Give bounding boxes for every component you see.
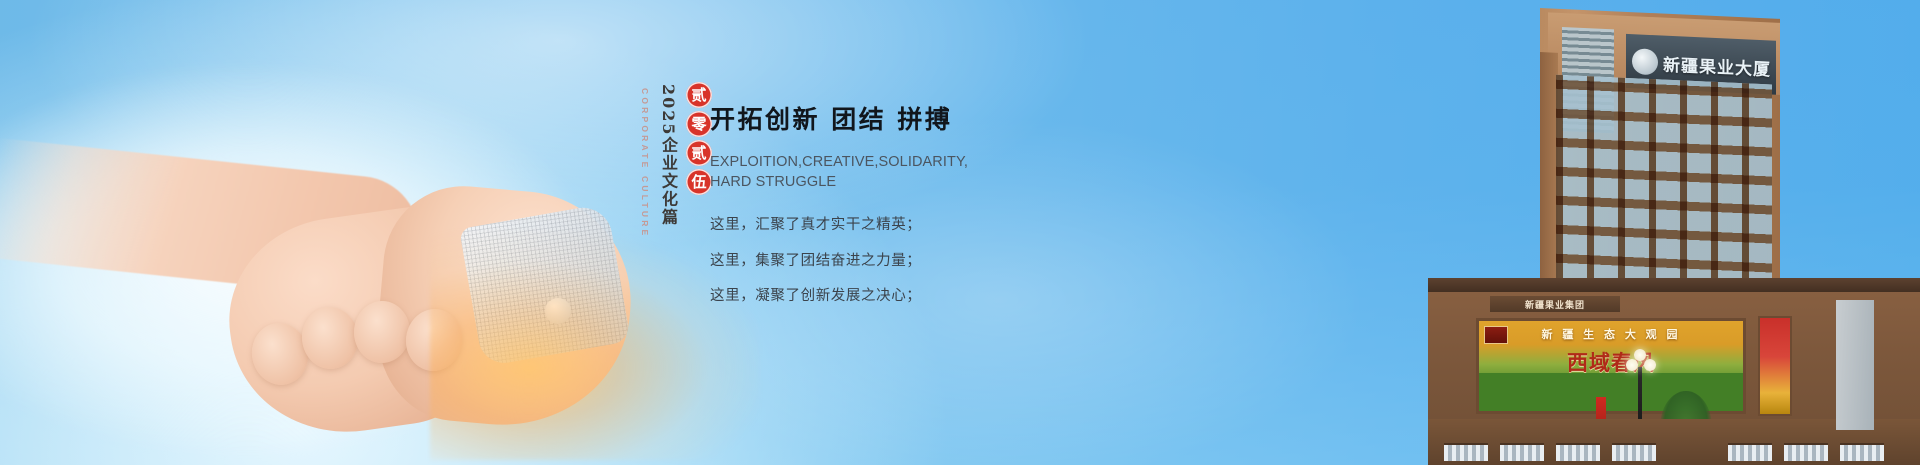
vertical-english-label: CORPORATE CULTURE	[640, 78, 650, 238]
background-side-tower	[1836, 300, 1874, 430]
seal-stamp-4: 伍	[686, 169, 712, 195]
slogan-text-block: 开拓创新 团结 拼搏 EXPLOITION,CREATIVE,SOLIDARIT…	[710, 100, 1010, 325]
slogan-line-3: 这里，凝聚了创新发展之决心；	[710, 289, 1010, 304]
shop-awning	[1784, 443, 1828, 461]
slogan-line-1: 这里，汇聚了真才实干之精英；	[710, 218, 1010, 233]
seal-stamp-2: 零	[686, 111, 712, 137]
corporate-culture-banner: 诚信合作 贰 零 贰 伍 2025企业文化篇 CORPORATE CULTURE…	[0, 0, 1920, 465]
slogan-headline: 开拓创新 团结 拼搏	[710, 100, 1010, 136]
shop-awning	[1728, 443, 1772, 461]
vertical-ad-poster	[1758, 316, 1792, 416]
shop-awning	[1556, 443, 1600, 461]
tower-sign-text: 新疆果业大厦	[1663, 50, 1771, 80]
vertical-seal-strip: 贰 零 贰 伍 2025企业文化篇 CORPORATE CULTURE	[592, 78, 712, 328]
calligraphy-char-1: 诚	[244, 97, 390, 261]
shop-awning	[1840, 443, 1884, 461]
led-billboard: 新 疆 生 态 大 观 园 西域春风 绿色典藏 · 大美新疆	[1476, 318, 1746, 414]
mall-signage: 新疆果业集团	[1490, 296, 1620, 312]
lamp-top-globe-icon	[1634, 349, 1646, 361]
seal-stamp-1: 贰	[686, 82, 712, 108]
shop-awning	[1444, 443, 1488, 461]
calligraphy-char-2: 信	[383, 84, 534, 236]
seal-stack: 贰 零 贰 伍	[686, 78, 712, 195]
shop-awning	[1500, 443, 1544, 461]
seal-stamp-3: 贰	[686, 140, 712, 166]
podium-cornice	[1428, 278, 1920, 292]
mall-sign-text: 新疆果业集团	[1525, 298, 1585, 311]
building-photo: 新疆果业大厦 新疆果业集团 新 疆 生 态 大 观 园 西域春风 绿色典藏 · …	[1240, 0, 1920, 465]
billboard-title: 新 疆 生 态 大 观 园	[1479, 326, 1743, 342]
slogan-lines: 这里，汇聚了真才实干之精英； 这里，集聚了团结奋进之力量； 这里，凝聚了创新发展…	[710, 218, 1010, 304]
slogan-line-2: 这里，集聚了团结奋进之力量；	[710, 254, 1010, 269]
company-logo-icon	[1632, 48, 1658, 75]
vertical-chinese-label: 2025企业文化篇	[656, 78, 680, 227]
slogan-english: EXPLOITION,CREATIVE,SOLIDARITY, HARD STR…	[710, 152, 925, 192]
shop-awning	[1612, 443, 1656, 461]
